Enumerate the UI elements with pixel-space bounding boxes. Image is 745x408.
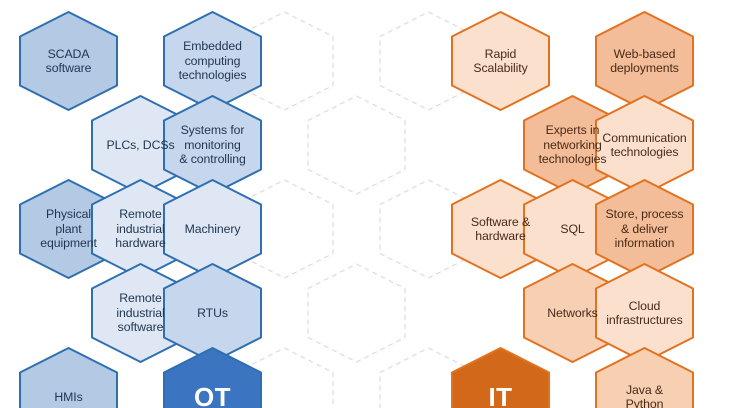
ghost-hexagon [308, 264, 405, 362]
ghost-hexagon [308, 96, 405, 194]
hexagon-it-key[interactable] [452, 348, 549, 408]
hexagon-java-python[interactable] [596, 348, 693, 408]
hexagon-svg-layer [0, 0, 745, 408]
hexagon-hmis[interactable] [20, 348, 117, 408]
hexagon-rapid-scalability[interactable] [452, 12, 549, 110]
hexagon-diagram-canvas: SCADAsoftwareEmbeddedcomputingtechnologi… [0, 0, 745, 408]
hexagon-scada-software[interactable] [20, 12, 117, 110]
hexagon-ot-key[interactable] [164, 348, 261, 408]
